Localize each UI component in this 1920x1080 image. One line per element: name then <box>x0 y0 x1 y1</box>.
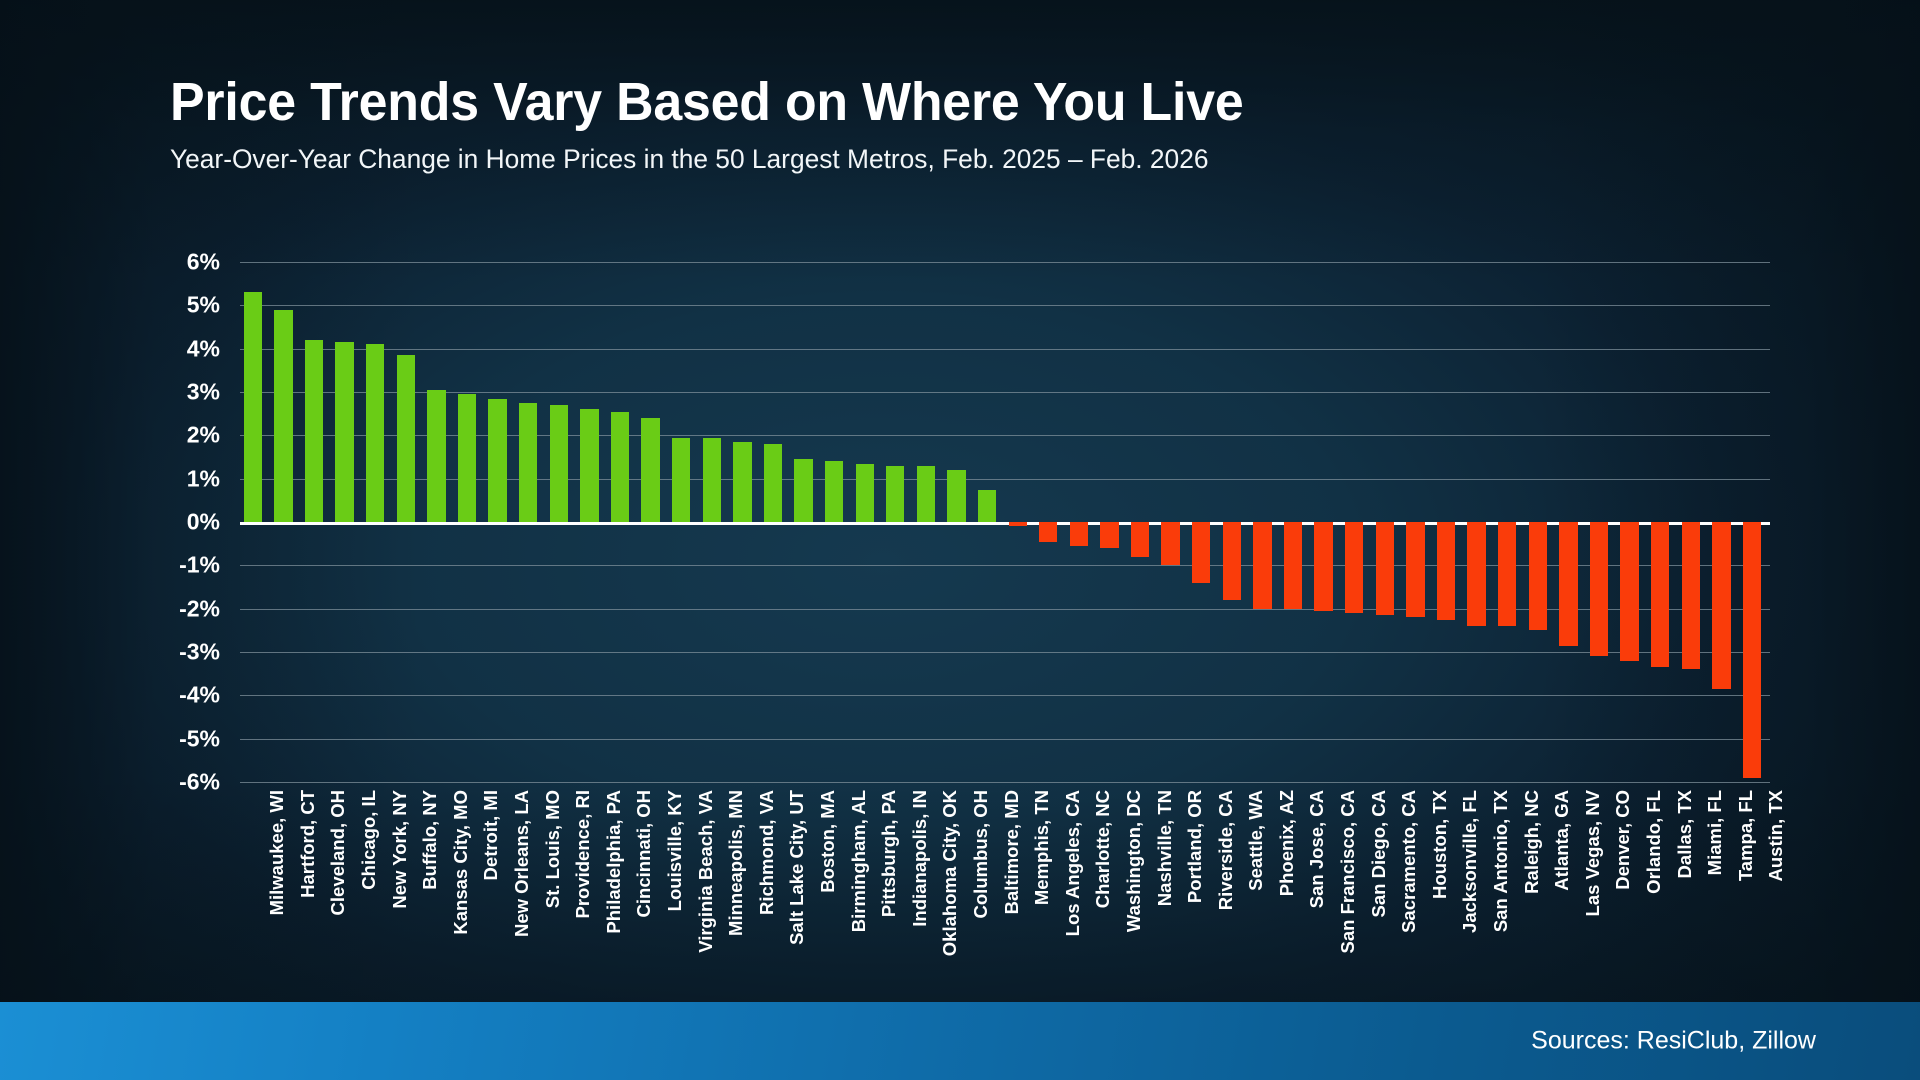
x-label-slot: Columbus, OH <box>944 790 975 970</box>
x-label-slot: Buffalo, NY <box>393 790 424 970</box>
x-label-slot: Virginia Beach, VA <box>668 790 699 970</box>
bar-slot <box>699 262 730 782</box>
bar-series <box>240 262 1770 782</box>
bar-slot <box>1617 262 1648 782</box>
x-label-slot: San Antonio, TX <box>1464 790 1495 970</box>
x-label-slot: Dallas, TX <box>1647 790 1678 970</box>
bar-slot <box>546 262 577 782</box>
bar-slot <box>1586 262 1617 782</box>
x-label-slot: Cincinnati, OH <box>607 790 638 970</box>
x-label-slot: Portland, OR <box>1158 790 1189 970</box>
bar-slot <box>1280 262 1311 782</box>
bar-slot <box>1250 262 1281 782</box>
bar[interactable] <box>1070 522 1088 546</box>
bar-slot <box>852 262 883 782</box>
bar[interactable] <box>1712 522 1730 689</box>
x-label-slot: Philadelphia, PA <box>577 790 608 970</box>
x-label-slot: New York, NY <box>362 790 393 970</box>
x-label-slot: Phoenix, AZ <box>1250 790 1281 970</box>
bar-slot <box>1127 262 1158 782</box>
bar-slot <box>1219 262 1250 782</box>
bar[interactable] <box>1406 522 1424 617</box>
page-title: Price Trends Vary Based on Where You Liv… <box>170 74 1244 130</box>
bar-slot <box>515 262 546 782</box>
bar[interactable] <box>1590 522 1608 656</box>
bar-slot <box>1403 262 1434 782</box>
bar[interactable] <box>733 442 751 522</box>
x-label-slot: San Francisco, CA <box>1311 790 1342 970</box>
bar[interactable] <box>1039 522 1057 542</box>
x-label-slot: Jacksonville, FL <box>1433 790 1464 970</box>
x-label-slot: St. Louis, MO <box>515 790 546 970</box>
bar[interactable] <box>672 438 690 523</box>
x-label-slot: Milwaukee, WI <box>240 790 271 970</box>
x-axis-labels: Milwaukee, WIHartford, CTCleveland, OHCh… <box>240 790 1770 970</box>
x-label-slot: Louisville, KY <box>638 790 669 970</box>
x-label-slot: Houston, TX <box>1403 790 1434 970</box>
x-label-slot: Salt Lake City, UT <box>760 790 791 970</box>
bar[interactable] <box>856 464 874 523</box>
bar[interactable] <box>947 470 965 522</box>
bar[interactable] <box>1100 522 1118 548</box>
gridline <box>240 782 1770 783</box>
bar-slot <box>1678 262 1709 782</box>
bar[interactable] <box>274 310 292 522</box>
bar[interactable] <box>1376 522 1394 615</box>
x-label-slot: Indianapolis, IN <box>882 790 913 970</box>
bar[interactable] <box>1651 522 1669 667</box>
bar[interactable] <box>978 490 996 523</box>
bar-slot <box>1556 262 1587 782</box>
bar-slot <box>882 262 913 782</box>
bar[interactable] <box>1223 522 1241 600</box>
bar-slot <box>362 262 393 782</box>
bar-slot <box>240 262 271 782</box>
x-label-slot: Richmond, VA <box>730 790 761 970</box>
bar[interactable] <box>427 390 445 522</box>
bar[interactable] <box>397 355 415 522</box>
source-credit: Sources: ResiClub, Zillow <box>1531 1027 1816 1056</box>
bar-slot <box>1005 262 1036 782</box>
bar[interactable] <box>1743 522 1761 778</box>
y-axis-tick: -6% <box>179 769 220 796</box>
x-label-slot: Birmingham, AL <box>821 790 852 970</box>
bar[interactable] <box>488 399 506 523</box>
bar-slot <box>760 262 791 782</box>
x-label-slot: Memphis, TN <box>1005 790 1036 970</box>
x-label-slot: Nashville, TN <box>1127 790 1158 970</box>
x-label-slot: Providence, RI <box>546 790 577 970</box>
bar-slot <box>424 262 455 782</box>
bar-slot <box>730 262 761 782</box>
bar[interactable] <box>1009 522 1027 526</box>
y-axis-tick: -1% <box>179 552 220 579</box>
bar[interactable] <box>305 340 323 522</box>
y-axis-tick: 0% <box>187 509 220 536</box>
bar[interactable] <box>1467 522 1485 626</box>
x-label-slot: Pittsburgh, PA <box>852 790 883 970</box>
footer-band: Sources: ResiClub, Zillow <box>0 1002 1920 1080</box>
bar[interactable] <box>703 438 721 523</box>
bar[interactable] <box>580 409 598 522</box>
x-label-slot: Detroit, MI <box>454 790 485 970</box>
bar-slot <box>393 262 424 782</box>
bar[interactable] <box>825 461 843 522</box>
x-label-slot: Austin, TX <box>1739 790 1770 970</box>
x-label-slot: Cleveland, OH <box>301 790 332 970</box>
x-label-slot: Denver, CO <box>1586 790 1617 970</box>
bar-slot <box>821 262 852 782</box>
bar-slot <box>301 262 332 782</box>
x-label-slot: Baltimore, MD <box>974 790 1005 970</box>
bar[interactable] <box>458 394 476 522</box>
bar-slot <box>1311 262 1342 782</box>
x-label-slot: Charlotte, NC <box>1066 790 1097 970</box>
y-axis-tick: -5% <box>179 725 220 752</box>
x-label-slot: Minneapolis, MN <box>699 790 730 970</box>
x-label-slot: New Orleans, LA <box>485 790 516 970</box>
bar-slot <box>577 262 608 782</box>
bar[interactable] <box>1345 522 1363 613</box>
bar-slot <box>1433 262 1464 782</box>
y-axis-tick: 1% <box>187 465 220 492</box>
x-label-slot: Sacramento, CA <box>1372 790 1403 970</box>
bar-slot <box>1066 262 1097 782</box>
bar[interactable] <box>1529 522 1547 630</box>
bar-slot <box>1494 262 1525 782</box>
bar[interactable] <box>1682 522 1700 669</box>
plot-canvas <box>240 262 1770 782</box>
bar[interactable] <box>550 405 568 522</box>
x-label-slot: Chicago, IL <box>332 790 363 970</box>
bar[interactable] <box>1192 522 1210 583</box>
bar-slot <box>454 262 485 782</box>
bar[interactable] <box>611 412 629 523</box>
x-label-slot: San Diego, CA <box>1341 790 1372 970</box>
page-subtitle: Year-Over-Year Change in Home Prices in … <box>170 144 1260 175</box>
x-label-slot: Atlanta, GA <box>1525 790 1556 970</box>
bar-slot <box>485 262 516 782</box>
bar-slot <box>1464 262 1495 782</box>
bar-slot <box>607 262 638 782</box>
bar-slot <box>1097 262 1128 782</box>
bar[interactable] <box>917 466 935 522</box>
slide-background: Price Trends Vary Based on Where You Liv… <box>0 0 1920 1080</box>
y-axis-tick: 4% <box>187 335 220 362</box>
bar-slot <box>944 262 975 782</box>
y-axis-tick: -3% <box>179 639 220 666</box>
bar[interactable] <box>1314 522 1332 611</box>
bar-slot <box>1341 262 1372 782</box>
bar[interactable] <box>1284 522 1302 609</box>
x-label-slot: Boston, MA <box>791 790 822 970</box>
bar-slot <box>1035 262 1066 782</box>
bar[interactable] <box>366 344 384 522</box>
x-label-slot: Los Angeles, CA <box>1035 790 1066 970</box>
bar-slot <box>1188 262 1219 782</box>
bar[interactable] <box>244 292 262 522</box>
bar[interactable] <box>1498 522 1516 626</box>
bar[interactable] <box>1131 522 1149 557</box>
x-axis-label: Austin, TX <box>1765 790 1787 881</box>
bar-slot <box>668 262 699 782</box>
bar[interactable] <box>335 342 353 522</box>
x-label-slot: Oklahoma City, OK <box>913 790 944 970</box>
bar[interactable] <box>1620 522 1638 661</box>
y-axis-tick: 3% <box>187 379 220 406</box>
bar-slot <box>1647 262 1678 782</box>
x-label-slot: Raleigh, NC <box>1494 790 1525 970</box>
x-label-slot: Riverside, CA <box>1188 790 1219 970</box>
bar[interactable] <box>1161 522 1179 565</box>
x-label-slot: Hartford, CT <box>271 790 302 970</box>
x-label-slot: Orlando, FL <box>1617 790 1648 970</box>
x-label-slot: Tampa, FL <box>1709 790 1740 970</box>
x-label-slot: Kansas City, MO <box>424 790 455 970</box>
x-label-slot: Las Vegas, NV <box>1556 790 1587 970</box>
bar[interactable] <box>641 418 659 522</box>
bar[interactable] <box>764 444 782 522</box>
bar[interactable] <box>794 459 812 522</box>
bar-slot <box>638 262 669 782</box>
bar-slot <box>1372 262 1403 782</box>
y-axis-tick: -4% <box>179 682 220 709</box>
y-axis: 6%5%4%3%2%1%0%-1%-2%-3%-4%-5%-6% <box>170 262 232 782</box>
y-axis-tick: 6% <box>187 249 220 276</box>
bar-slot <box>271 262 302 782</box>
bar[interactable] <box>1437 522 1455 620</box>
bar-slot <box>1158 262 1189 782</box>
bar[interactable] <box>1253 522 1271 609</box>
bar-slot <box>913 262 944 782</box>
bar[interactable] <box>886 466 904 522</box>
bar-slot <box>791 262 822 782</box>
bar[interactable] <box>519 403 537 522</box>
bar-slot <box>332 262 363 782</box>
chart-header: Price Trends Vary Based on Where You Liv… <box>170 74 1288 175</box>
y-axis-tick: 2% <box>187 422 220 449</box>
x-label-slot: Seattle, WA <box>1219 790 1250 970</box>
x-label-slot: San Jose, CA <box>1280 790 1311 970</box>
chart-plot-area: 6%5%4%3%2%1%0%-1%-2%-3%-4%-5%-6% <box>170 262 1770 782</box>
x-label-slot: Miami, FL <box>1678 790 1709 970</box>
bar-slot <box>1709 262 1740 782</box>
bar-slot <box>974 262 1005 782</box>
bar-slot <box>1525 262 1556 782</box>
bar[interactable] <box>1559 522 1577 646</box>
x-label-slot: Washington, DC <box>1097 790 1128 970</box>
y-axis-tick: -2% <box>179 595 220 622</box>
y-axis-tick: 5% <box>187 292 220 319</box>
bar-slot <box>1739 262 1770 782</box>
